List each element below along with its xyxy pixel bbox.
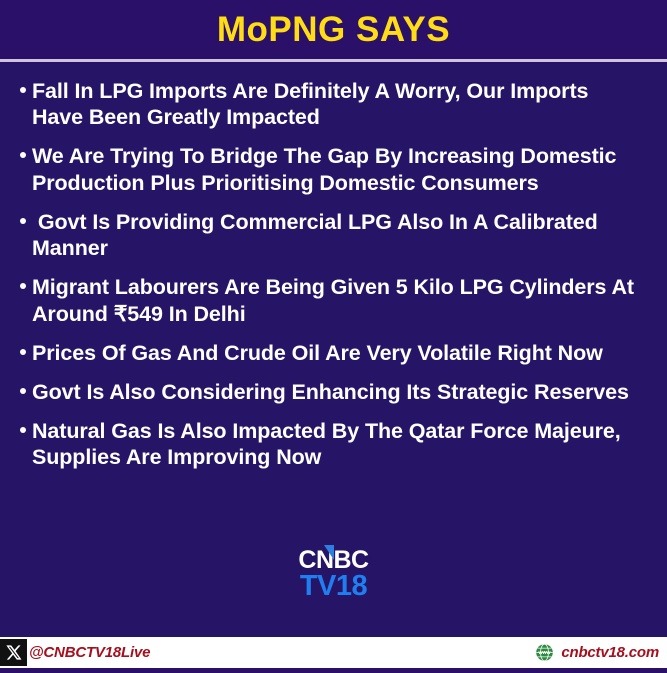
bullet-dot-icon [14, 340, 32, 355]
cnbc-tv18-logo: CNBC TV18 [0, 549, 667, 601]
cnbc-wordmark: CNBC [298, 549, 368, 573]
bullet-dot-icon [14, 143, 32, 158]
bullet-dot-icon [14, 78, 32, 93]
card-footer: @CNBCTV18Live www cnbctv18.com [0, 637, 667, 668]
list-item: Fall In LPG Imports Are Definitely A Wor… [14, 78, 653, 130]
list-item-text: We Are Trying To Bridge The Gap By Incre… [32, 143, 653, 195]
footer-website[interactable]: www cnbctv18.com [535, 643, 659, 662]
list-item: Natural Gas Is Also Impacted By The Qata… [14, 418, 653, 470]
list-item-text: Prices Of Gas And Crude Oil Are Very Vol… [32, 340, 611, 366]
list-item-text: Govt Is Also Considering Enhancing Its S… [32, 379, 637, 405]
list-item-text: Migrant Labourers Are Being Given 5 Kilo… [32, 274, 653, 326]
bullet-dot-icon [14, 274, 32, 289]
list-item: Migrant Labourers Are Being Given 5 Kilo… [14, 274, 653, 326]
bullet-dot-icon [14, 418, 32, 433]
list-item-text: Natural Gas Is Also Impacted By The Qata… [32, 418, 653, 470]
tv18-wordmark: TV18 [300, 572, 367, 601]
list-item: Govt Is Also Considering Enhancing Its S… [14, 379, 653, 405]
website-url[interactable]: cnbctv18.com [561, 644, 659, 661]
list-item: Prices Of Gas And Crude Oil Are Very Vol… [14, 340, 653, 366]
statement-list: Fall In LPG Imports Are Definitely A Wor… [14, 78, 653, 471]
bullet-dot-icon [14, 209, 32, 224]
svg-text:www: www [538, 650, 551, 656]
www-globe-icon: www [535, 643, 554, 662]
list-item: Govt Is Providing Commercial LPG Also In… [14, 209, 653, 261]
peacock-triangle-icon [324, 545, 334, 560]
bullet-body: Fall In LPG Imports Are Definitely A Wor… [0, 64, 667, 637]
footer-social[interactable]: @CNBCTV18Live [0, 639, 150, 666]
list-item-text: Fall In LPG Imports Are Definitely A Wor… [32, 78, 653, 130]
cnbc-wordmark-text: CNBC [298, 546, 368, 574]
list-item-text: Govt Is Providing Commercial LPG Also In… [32, 209, 653, 261]
bullet-dot-icon [14, 379, 32, 394]
news-card: MoPNG SAYS Fall In LPG Imports Are Defin… [0, 0, 667, 673]
x-twitter-icon[interactable] [0, 639, 27, 666]
card-header: MoPNG SAYS [0, 0, 667, 59]
page-title: MoPNG SAYS [217, 12, 450, 47]
footer-underbar [0, 668, 667, 673]
list-item: We Are Trying To Bridge The Gap By Incre… [14, 143, 653, 195]
twitter-handle[interactable]: @CNBCTV18Live [29, 644, 150, 661]
